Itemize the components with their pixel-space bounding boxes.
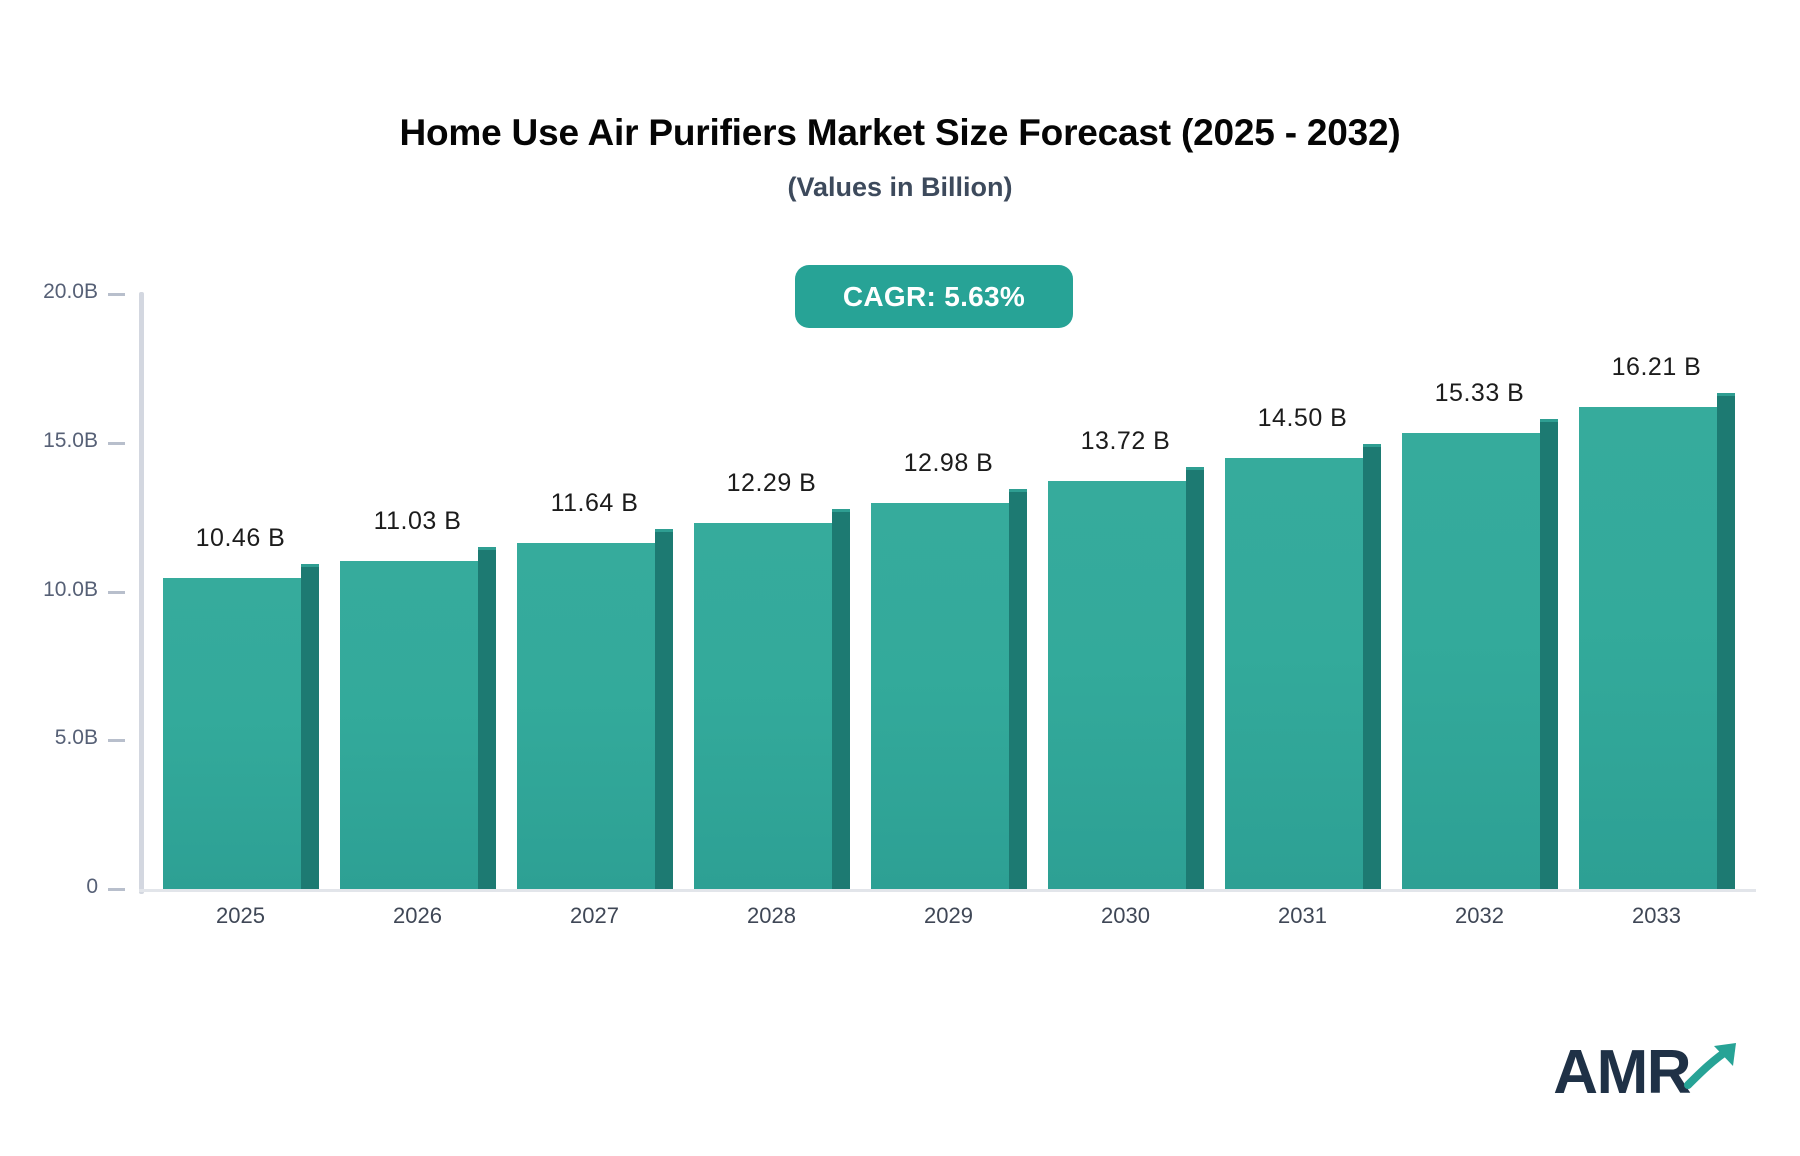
- x-axis-tick-label: 2027: [497, 903, 693, 929]
- bar-value-label: 13.72 B: [1026, 427, 1226, 456]
- bar-top-face: [832, 509, 850, 512]
- bar-2032[interactable]: [1402, 0, 1558, 1156]
- bar-front-face: [1225, 458, 1363, 889]
- x-axis-tick-label: 2028: [674, 903, 870, 929]
- bar-2028[interactable]: [694, 0, 850, 1156]
- amr-logo: AMR: [1553, 1039, 1744, 1104]
- y-axis-tick-mark: [108, 739, 125, 742]
- bar-side-face: [1717, 393, 1735, 889]
- y-axis-tick-mark: [108, 293, 125, 296]
- bar-value-label: 10.46 B: [141, 524, 341, 553]
- x-axis-tick-label: 2026: [320, 903, 516, 929]
- bar-2029[interactable]: [871, 0, 1027, 1156]
- bar-side-face: [301, 564, 319, 889]
- bar-side-face: [1009, 489, 1027, 889]
- y-axis-tick-label: 20.0B: [0, 280, 98, 304]
- bar-value-label: 12.29 B: [672, 469, 872, 498]
- bar-side-face: [478, 547, 496, 889]
- bar-top-face: [655, 529, 673, 532]
- bar-2026[interactable]: [340, 0, 496, 1156]
- bar-value-label: 12.98 B: [849, 449, 1049, 478]
- bar-2031[interactable]: [1225, 0, 1381, 1156]
- x-axis-tick-label: 2033: [1559, 903, 1755, 929]
- arrow-up-right-icon: [1684, 1039, 1744, 1098]
- bar-top-face: [1363, 444, 1381, 447]
- amr-logo-text: AMR: [1553, 1042, 1690, 1104]
- y-axis-tick-mark: [108, 591, 125, 594]
- x-axis-tick-label: 2031: [1205, 903, 1401, 929]
- bar-front-face: [694, 523, 832, 889]
- bar-side-face: [655, 529, 673, 889]
- y-axis-tick-label: 5.0B: [0, 726, 98, 750]
- x-axis-tick-label: 2032: [1382, 903, 1578, 929]
- bar-value-label: 15.33 B: [1380, 379, 1580, 408]
- y-axis-line: [139, 292, 144, 894]
- bar-front-face: [517, 543, 655, 889]
- bar-value-label: 11.64 B: [495, 489, 695, 518]
- bar-front-face: [1048, 481, 1186, 889]
- bar-value-label: 16.21 B: [1557, 353, 1757, 382]
- y-axis-tick-label: 0: [0, 875, 98, 899]
- bar-2027[interactable]: [517, 0, 673, 1156]
- bar-top-face: [1186, 467, 1204, 470]
- plot-area: 05.0B10.0B15.0B20.0B 10.46 B11.03 B11.64…: [0, 0, 1800, 1156]
- bar-value-label: 14.50 B: [1203, 404, 1403, 433]
- bar-value-label: 11.03 B: [318, 507, 518, 536]
- x-axis-tick-label: 2025: [143, 903, 339, 929]
- bar-top-face: [1717, 393, 1735, 396]
- y-axis-tick-label: 15.0B: [0, 429, 98, 453]
- bar-top-face: [1009, 489, 1027, 492]
- bar-top-face: [1540, 419, 1558, 422]
- bar-front-face: [1402, 433, 1540, 889]
- bar-front-face: [871, 503, 1009, 889]
- y-axis-tick-label: 10.0B: [0, 578, 98, 602]
- bar-front-face: [163, 578, 301, 889]
- chart-canvas: Home Use Air Purifiers Market Size Forec…: [0, 0, 1800, 1156]
- bar-side-face: [1363, 444, 1381, 889]
- bar-side-face: [1186, 467, 1204, 889]
- x-axis-tick-label: 2029: [851, 903, 1047, 929]
- bar-front-face: [1579, 407, 1717, 889]
- bar-2033[interactable]: [1579, 0, 1735, 1156]
- bar-top-face: [301, 564, 319, 567]
- bar-2025[interactable]: [163, 0, 319, 1156]
- bar-2030[interactable]: [1048, 0, 1204, 1156]
- x-axis-tick-label: 2030: [1028, 903, 1224, 929]
- y-axis-tick-mark: [108, 888, 125, 891]
- y-axis-tick-mark: [108, 442, 125, 445]
- bar-side-face: [832, 509, 850, 889]
- bar-top-face: [478, 547, 496, 550]
- bar-front-face: [340, 561, 478, 889]
- bar-side-face: [1540, 419, 1558, 889]
